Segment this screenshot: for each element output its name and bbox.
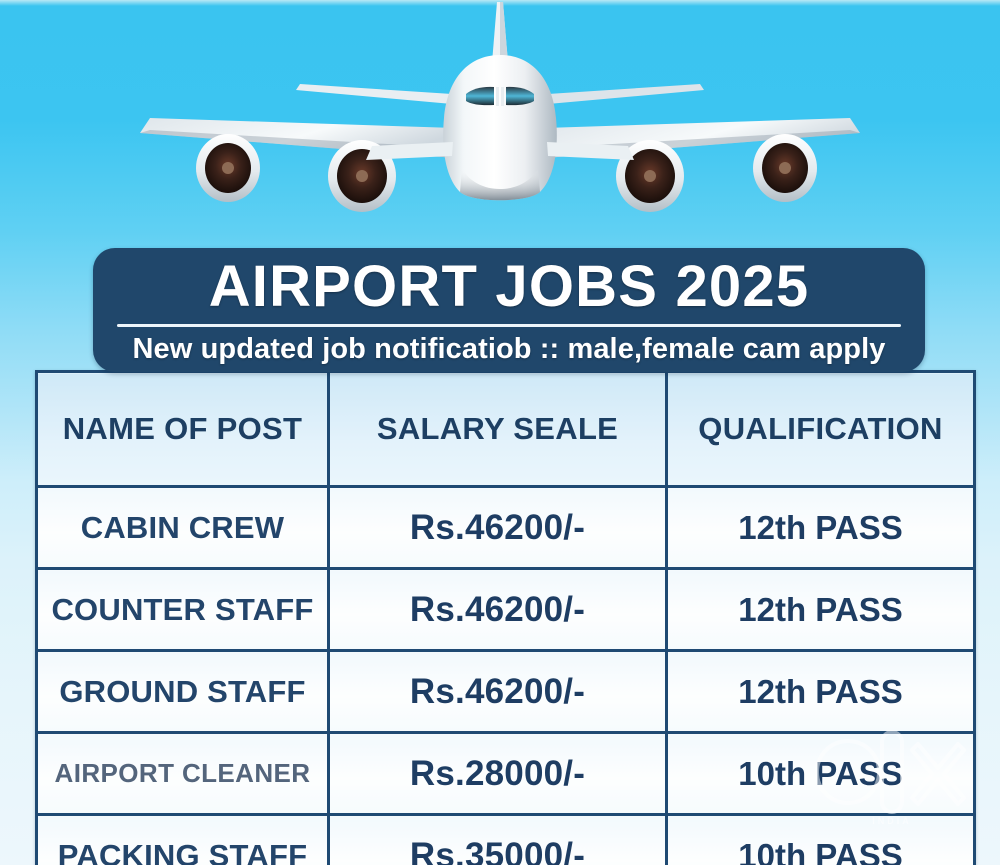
header-banner: AIRPORT JOBS 2025 New updated job notifi… — [93, 248, 925, 372]
cell-salary: Rs.35000/- — [329, 815, 667, 865]
cell-post: GROUND STAFF — [37, 651, 329, 733]
cell-qualification: 12th PASS — [667, 569, 975, 651]
cell-salary: Rs.46200/- — [329, 651, 667, 733]
table-header-row: NAME OF POST SALARY SEALE QUALIFICATION — [37, 372, 975, 487]
sky-artwork — [0, 0, 1000, 250]
banner-divider — [117, 324, 901, 327]
table-row: PACKING STAFF Rs.35000/- 10th PASS — [37, 815, 975, 865]
table-row: GROUND STAFF Rs.46200/- 12th PASS — [37, 651, 975, 733]
cell-qualification: 12th PASS — [667, 487, 975, 569]
page-title: AIRPORT JOBS 2025 — [93, 254, 925, 320]
engine-inner-left — [328, 140, 453, 212]
airport-jobs-poster: AIRPORT JOBS 2025 New updated job notifi… — [0, 0, 1000, 865]
page-subtitle: New updated job notificatiob :: male,fem… — [93, 328, 925, 370]
column-header-qualification: QUALIFICATION — [667, 372, 975, 487]
table-row: AIRPORT CLEANER Rs.28000/- 10th PASS — [37, 733, 975, 815]
cell-salary: Rs.28000/- — [329, 733, 667, 815]
cell-post: CABIN CREW — [37, 487, 329, 569]
cell-qualification: 10th PASS — [667, 815, 975, 865]
cell-qualification: 10th PASS — [667, 733, 975, 815]
column-header-post: NAME OF POST — [37, 372, 329, 487]
cell-salary: Rs.46200/- — [329, 487, 667, 569]
cell-post: COUNTER STAFF — [37, 569, 329, 651]
column-header-salary: SALARY SEALE — [329, 372, 667, 487]
table-row: COUNTER STAFF Rs.46200/- 12th PASS — [37, 569, 975, 651]
cell-post: PACKING STAFF — [37, 815, 329, 865]
cell-post: AIRPORT CLEANER — [37, 733, 329, 815]
cell-salary: Rs.46200/- — [329, 569, 667, 651]
engine-outer-right — [753, 134, 817, 202]
engine-outer-left — [196, 134, 260, 202]
airplane-front-view-icon — [0, 0, 1000, 250]
table-row: CABIN CREW Rs.46200/- 12th PASS — [37, 487, 975, 569]
cell-qualification: 12th PASS — [667, 651, 975, 733]
jobs-table: NAME OF POST SALARY SEALE QUALIFICATION … — [35, 370, 976, 865]
engine-inner-right — [547, 140, 684, 212]
